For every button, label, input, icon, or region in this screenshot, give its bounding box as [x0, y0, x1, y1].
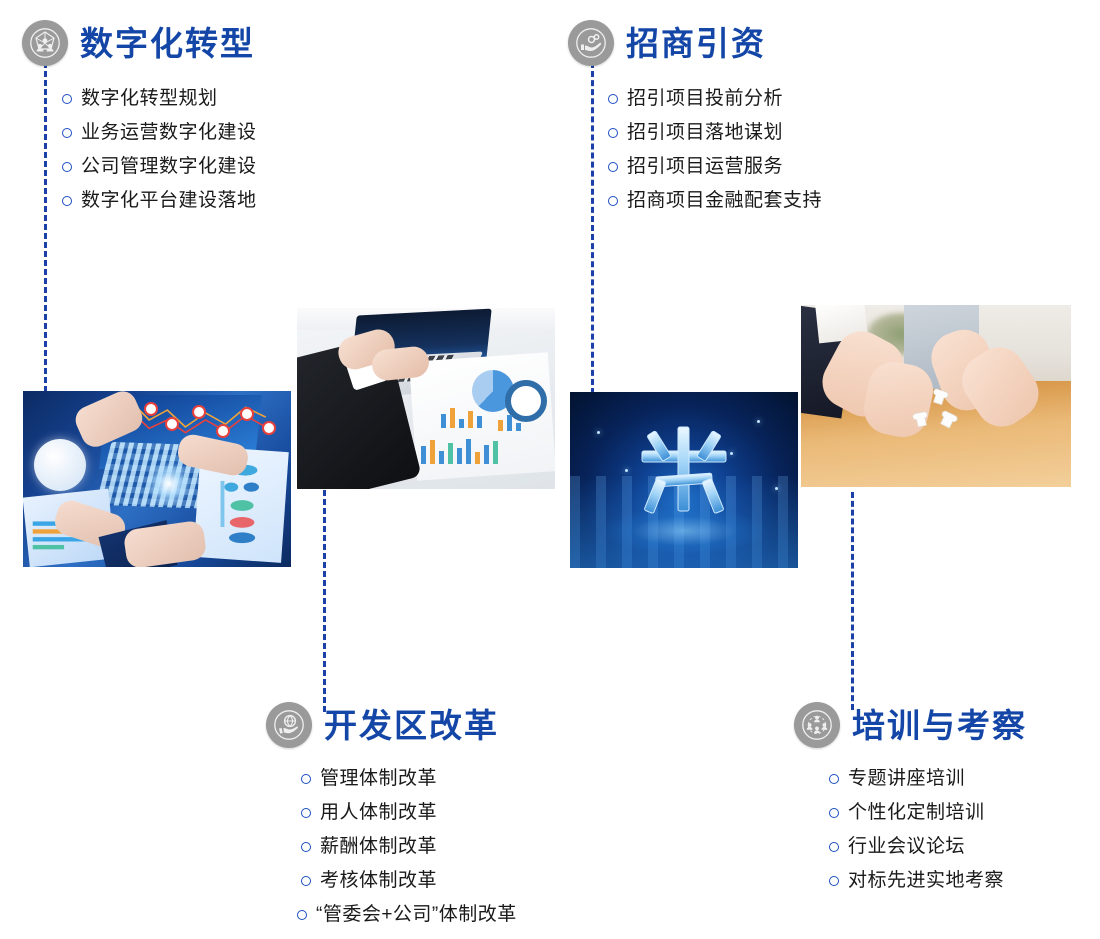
list-item[interactable]: 招商项目金融配套支持 — [608, 184, 822, 218]
section-training-and-inspection: 培训与考察 专题讲座培训 个性化定制培训 行业会议论坛 对标先进实地考察 — [794, 700, 1027, 898]
photo-detail — [421, 438, 498, 464]
section-title: 培训与考察 — [852, 709, 1027, 742]
dash-connector-mid-bottom — [323, 490, 326, 712]
list-item[interactable]: 数字化平台建设落地 — [62, 184, 257, 218]
list-item-label: 业务运营数字化建设 — [81, 116, 257, 150]
list-item-label: 专题讲座培训 — [848, 762, 965, 796]
section-development-zone-reform: 开发区改革 管理体制改革 用人体制改革 薪酬体制改革 考核体制改革 “管委会+公… — [266, 700, 517, 932]
bullet-icon — [829, 808, 839, 818]
list-item[interactable]: 招引项目落地谋划 — [608, 116, 822, 150]
section-item-list: 管理体制改革 用人体制改革 薪酬体制改革 考核体制改革 “管委会+公司”体制改革 — [301, 762, 517, 932]
list-item-label: 行业会议论坛 — [848, 830, 965, 864]
bullet-icon — [301, 842, 311, 852]
bullet-icon — [301, 808, 311, 818]
photo-detail — [34, 439, 86, 491]
bullet-icon — [301, 774, 311, 784]
bullet-icon — [608, 128, 618, 138]
photo-finance-symbol — [570, 392, 798, 568]
list-item[interactable]: 考核体制改革 — [301, 864, 517, 898]
photo-data-analysis — [23, 391, 291, 567]
section-title: 开发区改革 — [324, 709, 499, 742]
list-item-label: 对标先进实地考察 — [848, 864, 1004, 898]
network-people-icon — [22, 20, 68, 66]
bullet-icon — [608, 162, 618, 172]
list-item[interactable]: 数字化转型规划 — [62, 82, 257, 116]
list-item-label: 招引项目运营服务 — [627, 150, 783, 184]
bullet-icon — [62, 196, 72, 206]
photo-detail — [208, 461, 278, 545]
list-item-label: 招商项目金融配套支持 — [627, 184, 822, 218]
list-item[interactable]: 公司管理数字化建设 — [62, 150, 257, 184]
bullet-icon — [829, 876, 839, 886]
bullet-icon — [62, 128, 72, 138]
dash-connector-right-bottom — [851, 492, 854, 710]
list-item-label: 个性化定制培训 — [848, 796, 985, 830]
section-header: 开发区改革 — [266, 700, 517, 750]
list-item-label: 数字化转型规划 — [81, 82, 218, 116]
section-item-list: 招引项目投前分析 招引项目落地谋划 招引项目运营服务 招商项目金融配套支持 — [608, 82, 822, 218]
section-header: 数字化转型 — [22, 18, 257, 68]
photo-detail — [441, 406, 482, 428]
list-item-label: “管委会+公司”体制改革 — [316, 898, 517, 932]
list-item-label: 用人体制改革 — [320, 796, 437, 830]
list-item-label: 管理体制改革 — [320, 762, 437, 796]
photo-laptop-reports — [297, 308, 555, 489]
list-item[interactable]: 招引项目运营服务 — [608, 150, 822, 184]
list-item-label: 数字化平台建设落地 — [81, 184, 257, 218]
chart-point — [144, 402, 158, 416]
bullet-icon — [297, 910, 307, 920]
list-item-label: 考核体制改革 — [320, 864, 437, 898]
section-header: 培训与考察 — [794, 700, 1027, 750]
photo-detail — [597, 431, 600, 434]
list-item[interactable]: 个性化定制培训 — [829, 796, 1027, 830]
hand-coins-icon — [568, 20, 614, 66]
list-item[interactable]: 业务运营数字化建设 — [62, 116, 257, 150]
bullet-icon — [301, 876, 311, 886]
list-item[interactable]: 薪酬体制改革 — [301, 830, 517, 864]
puzzle-pieces-icon — [893, 385, 985, 447]
section-item-list: 数字化转型规划 业务运营数字化建设 公司管理数字化建设 数字化平台建设落地 — [62, 82, 257, 218]
photo-detail — [757, 420, 760, 423]
list-item-label: 薪酬体制改革 — [320, 830, 437, 864]
section-title: 招商引资 — [626, 27, 766, 60]
hand-globe-icon — [266, 702, 312, 748]
bullet-icon — [62, 162, 72, 172]
finance-symbol-icon — [624, 417, 744, 521]
photo-detail — [123, 519, 208, 567]
list-item[interactable]: 对标先进实地考察 — [829, 864, 1027, 898]
list-item-label: 公司管理数字化建设 — [81, 150, 257, 184]
people-circle-icon — [794, 702, 840, 748]
bullet-icon — [608, 94, 618, 104]
section-investment-attraction: 招商引资 招引项目投前分析 招引项目落地谋划 招引项目运营服务 招商项目金融配套… — [568, 18, 822, 218]
bullet-icon — [62, 94, 72, 104]
list-item[interactable]: 专题讲座培训 — [829, 762, 1027, 796]
section-item-list: 专题讲座培训 个性化定制培训 行业会议论坛 对标先进实地考察 — [829, 762, 1027, 898]
photo-detail — [498, 413, 521, 431]
section-title: 数字化转型 — [80, 27, 255, 60]
bullet-icon — [829, 774, 839, 784]
bullet-icon — [829, 842, 839, 852]
list-item[interactable]: “管委会+公司”体制改革 — [297, 898, 517, 932]
bullet-icon — [608, 196, 618, 206]
photo-detail — [730, 452, 733, 455]
list-item-label: 招引项目投前分析 — [627, 82, 783, 116]
list-item[interactable]: 用人体制改革 — [301, 796, 517, 830]
list-item[interactable]: 行业会议论坛 — [829, 830, 1027, 864]
chart-point — [240, 407, 254, 421]
list-item[interactable]: 招引项目投前分析 — [608, 82, 822, 116]
chart-point — [262, 421, 276, 435]
chart-point — [192, 405, 206, 419]
photo-puzzle-teamwork — [801, 305, 1071, 487]
list-item-label: 招引项目落地谋划 — [627, 116, 783, 150]
section-header: 招商引资 — [568, 18, 822, 68]
list-item[interactable]: 管理体制改革 — [301, 762, 517, 796]
section-digital-transformation: 数字化转型 数字化转型规划 业务运营数字化建设 公司管理数字化建设 数字化平台建… — [22, 18, 257, 218]
